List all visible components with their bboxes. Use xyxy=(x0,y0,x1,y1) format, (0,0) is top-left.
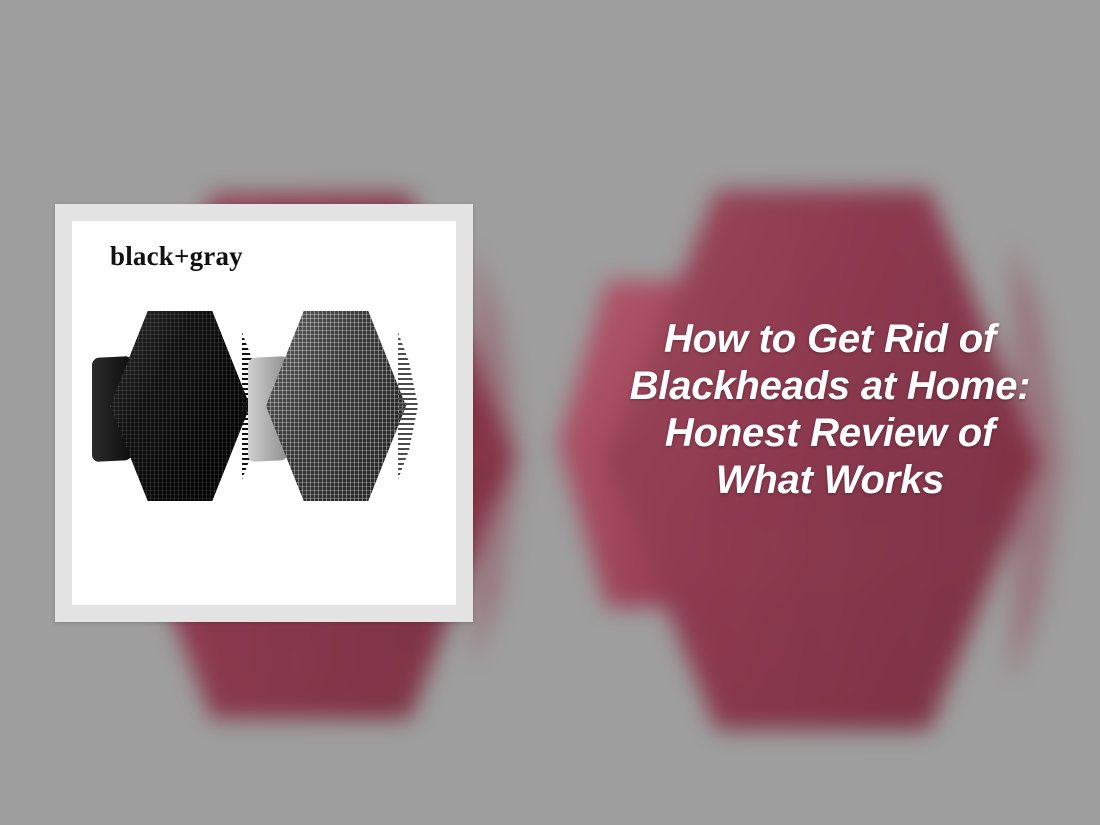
product-black-head xyxy=(110,309,250,503)
product-card-inner: black+gray xyxy=(72,221,456,605)
product-gray-scrubber xyxy=(250,309,406,503)
product-image-card: black+gray xyxy=(55,204,473,622)
brand-wordmark: black+gray xyxy=(110,241,243,272)
image-canvas: black+gray How to Get Rid of Blackheads … xyxy=(0,0,1100,825)
page-title: How to Get Rid of Blackheads at Home: Ho… xyxy=(600,316,1060,504)
product-black-scrubber xyxy=(94,309,250,503)
product-gray-head xyxy=(266,309,406,503)
product-gray-bristles xyxy=(398,332,418,479)
